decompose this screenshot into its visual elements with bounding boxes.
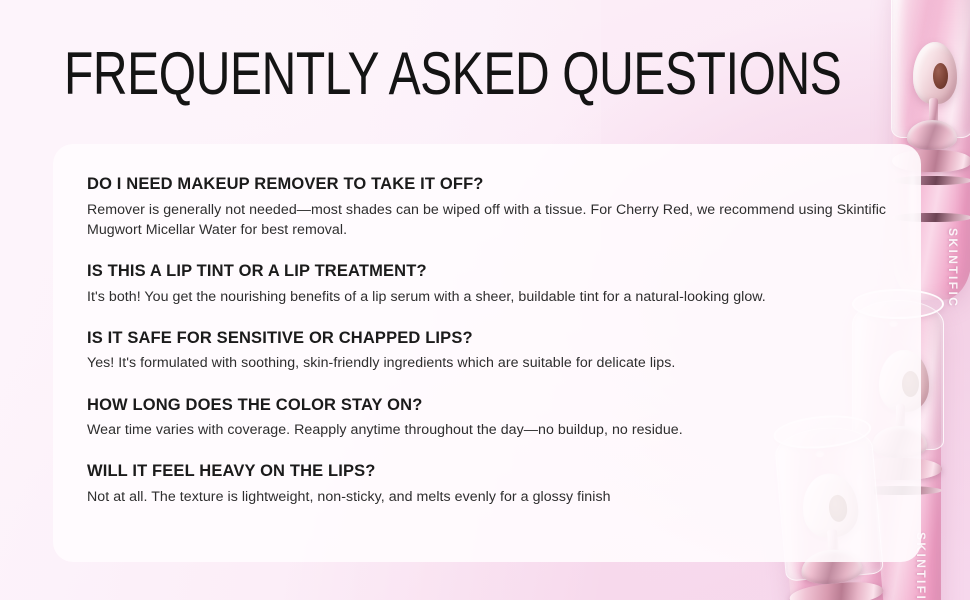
faq-question: HOW LONG DOES THE COLOR STAY ON?: [87, 395, 887, 416]
faq-question: IS IT SAFE FOR SENSITIVE OR CHAPPED LIPS…: [87, 328, 887, 349]
faq-list: DO I NEED MAKEUP REMOVER TO TAKE IT OFF?…: [87, 174, 887, 507]
faq-banner: SKINTIFIC SKINTIFIC: [0, 0, 970, 600]
bow-ornament: [907, 120, 957, 150]
page-title: FREQUENTLY ASKED QUESTIONS: [64, 44, 744, 104]
faq-item: DO I NEED MAKEUP REMOVER TO TAKE IT OFF?…: [87, 174, 887, 240]
tube-cap: [891, 0, 970, 138]
faq-question: WILL IT FEEL HEAVY ON THE LIPS?: [87, 461, 887, 482]
faq-card: DO I NEED MAKEUP REMOVER TO TAKE IT OFF?…: [53, 144, 921, 562]
faq-answer: Remover is generally not needed—most sha…: [87, 200, 887, 240]
faq-item: HOW LONG DOES THE COLOR STAY ON? Wear ti…: [87, 395, 887, 441]
faq-item: WILL IT FEEL HEAVY ON THE LIPS? Not at a…: [87, 461, 887, 507]
faq-answer: Yes! It's formulated with soothing, skin…: [87, 353, 887, 373]
faq-answer: Not at all. The texture is lightweight, …: [87, 487, 887, 507]
brand-label-top: SKINTIFIC: [946, 228, 960, 308]
faq-question: IS THIS A LIP TINT OR A LIP TREATMENT?: [87, 261, 887, 282]
faq-question: DO I NEED MAKEUP REMOVER TO TAKE IT OFF?: [87, 174, 887, 195]
faq-answer: Wear time varies with coverage. Reapply …: [87, 420, 887, 440]
faq-answer: It's both! You get the nourishing benefi…: [87, 287, 887, 307]
faq-item: IS THIS A LIP TINT OR A LIP TREATMENT? I…: [87, 261, 887, 307]
applicator-head: [913, 42, 957, 104]
metal-collar: [789, 579, 884, 600]
applicator-stem: [929, 98, 938, 136]
faq-item: IS IT SAFE FOR SENSITIVE OR CHAPPED LIPS…: [87, 328, 887, 374]
